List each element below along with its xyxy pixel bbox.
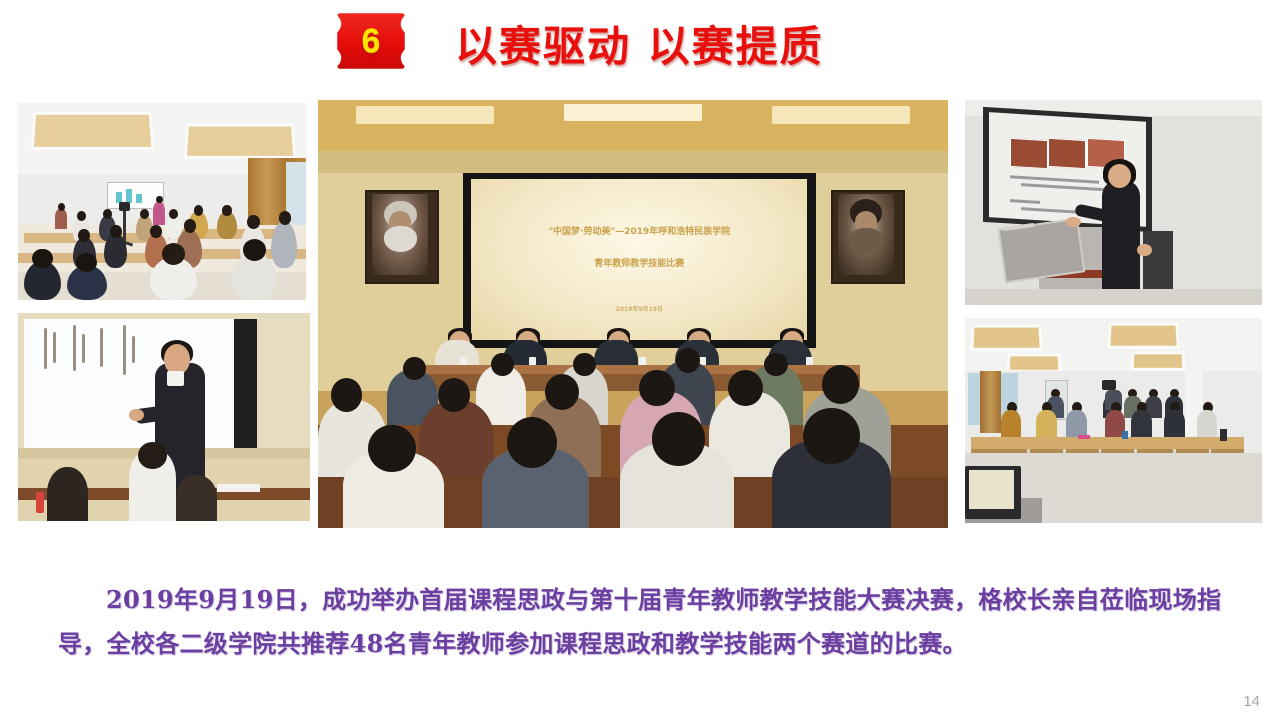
photo-top-right-scene bbox=[965, 100, 1262, 305]
page-number: 14 bbox=[1243, 693, 1260, 710]
projection-screen: "中国梦·劳动美"—2019年呼和浩特民族学院 青年教师教学技能比赛 2019年… bbox=[471, 179, 807, 340]
photo-center-main: "中国梦·劳动美"—2019年呼和浩特民族学院 青年教师教学技能比赛 2019年… bbox=[318, 100, 948, 528]
section-number-badge: 6 bbox=[332, 10, 410, 72]
photo-bottom-left-scene bbox=[18, 313, 310, 521]
photo-bottom-right-scene bbox=[965, 318, 1262, 523]
photo-top-left bbox=[18, 103, 306, 300]
photo-center-scene: "中国梦·劳动美"—2019年呼和浩特民族学院 青年教师教学技能比赛 2019年… bbox=[318, 100, 948, 528]
page-title: 以赛驱动 以赛提质 bbox=[455, 13, 824, 74]
screen-line-3: 2019年9月19日 bbox=[471, 304, 807, 313]
photo-top-right bbox=[965, 100, 1262, 305]
photo-top-left-scene bbox=[18, 103, 306, 300]
screen-line-1: "中国梦·劳动美"—2019年呼和浩特民族学院 bbox=[471, 224, 807, 237]
photo-bottom-right bbox=[965, 318, 1262, 523]
photo-bottom-left bbox=[18, 313, 310, 521]
slide-caption: 2019年9月19日，成功举办首届课程思政与第十届青年教师教学技能大赛决赛，格校… bbox=[58, 578, 1228, 666]
slide-header: 6 以赛驱动 以赛提质 bbox=[0, 0, 1280, 95]
badge-number-label: 6 bbox=[332, 10, 410, 72]
screen-line-2: 青年教师教学技能比赛 bbox=[471, 256, 807, 269]
